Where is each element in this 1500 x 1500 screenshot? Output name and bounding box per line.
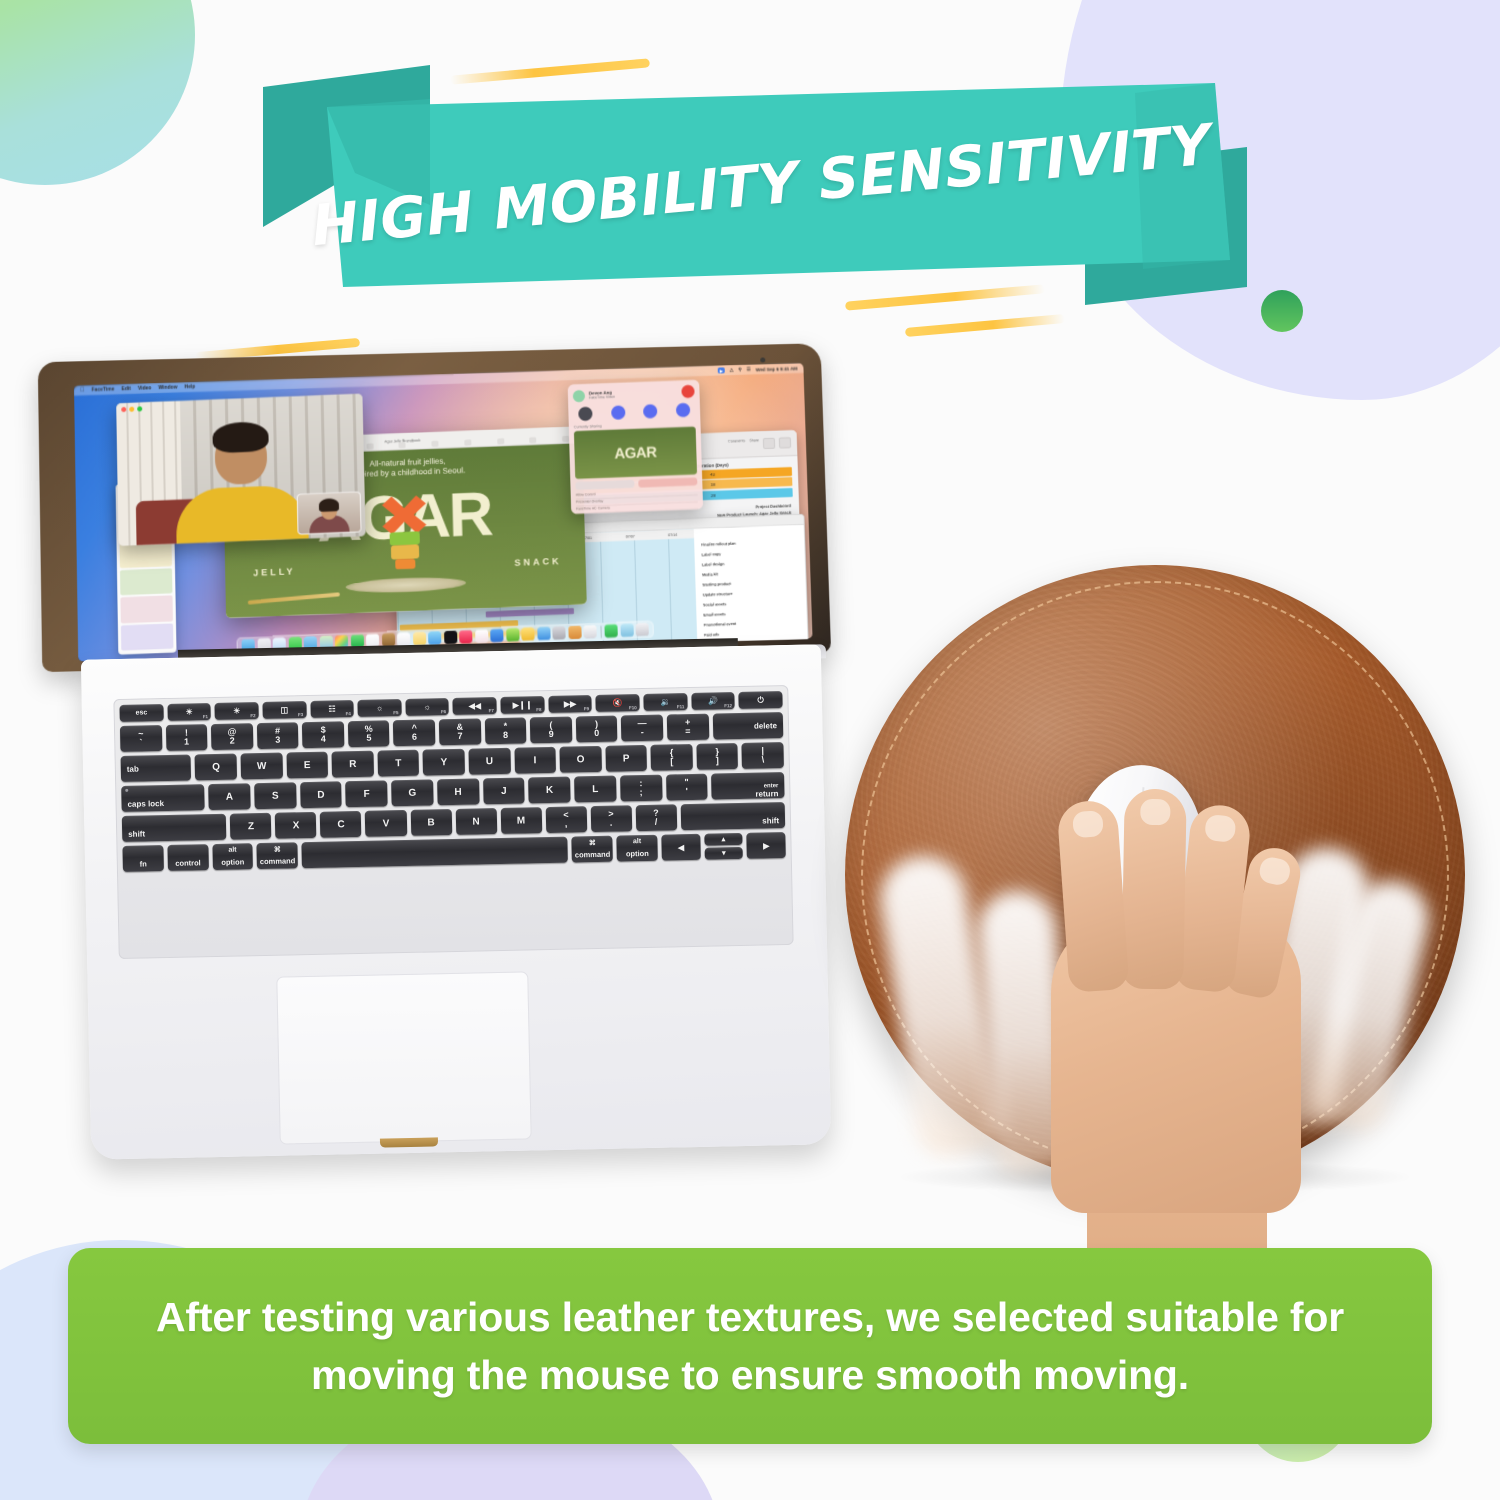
keynote-shape-icon[interactable] xyxy=(399,442,406,448)
key-command-right[interactable]: ⌘command xyxy=(572,836,613,863)
effects-icon[interactable] xyxy=(676,403,690,417)
key-quote[interactable]: "' xyxy=(666,774,708,801)
key-command-left[interactable]: ⌘command xyxy=(257,842,298,869)
reminders-icon[interactable] xyxy=(397,632,410,646)
close-icon[interactable] xyxy=(121,407,126,412)
key-1[interactable]: !1 xyxy=(165,724,207,751)
key-p[interactable]: P xyxy=(605,745,647,772)
notes-icon[interactable] xyxy=(412,632,425,646)
key-tab[interactable]: tab xyxy=(121,754,192,781)
freeform-icon[interactable] xyxy=(428,631,441,645)
note-card[interactable] xyxy=(120,568,173,595)
key-backtick[interactable]: ~` xyxy=(120,725,162,752)
menu-item-window[interactable]: Window xyxy=(158,385,177,392)
key-minus[interactable]: —- xyxy=(621,715,663,742)
preview-icon[interactable] xyxy=(552,626,565,640)
decor-dot-green xyxy=(1261,290,1303,332)
note-card[interactable] xyxy=(121,623,174,650)
facetime-participant-hair xyxy=(212,421,268,453)
share-label[interactable]: Share xyxy=(749,438,759,449)
screenshare-status-icon[interactable]: ▶ xyxy=(718,367,725,373)
window-traffic-lights[interactable] xyxy=(121,406,142,412)
key-h[interactable]: H xyxy=(437,778,479,805)
key-3[interactable]: #3 xyxy=(257,722,299,749)
key-9[interactable]: (9 xyxy=(530,717,572,744)
key-return[interactable]: enter return xyxy=(711,772,784,800)
slide-tag-right: SNACK xyxy=(514,556,561,568)
key-y[interactable]: Y xyxy=(423,749,465,776)
key-j[interactable]: J xyxy=(483,778,525,805)
key-z[interactable]: Z xyxy=(230,813,272,840)
popover-caller-row: Devon Ang FaceTime Video xyxy=(573,385,695,403)
control-center-icon[interactable]: ☲ xyxy=(747,367,751,373)
wifi-icon[interactable]: △ xyxy=(730,367,734,373)
key-period[interactable]: >. xyxy=(590,805,632,832)
key-f1-brightness-down[interactable]: ☀F1 xyxy=(167,703,211,721)
fingernail xyxy=(1072,810,1104,838)
keynote-text-icon[interactable] xyxy=(366,443,373,449)
key-arrow-right[interactable]: ▶ xyxy=(747,832,786,859)
menu-item-video[interactable]: Video xyxy=(138,385,152,391)
menubar-status[interactable]: ▶ △ ⚲ ☲ Wed Sep 6 9:41 AM xyxy=(718,365,798,373)
edit-window-button[interactable] xyxy=(575,480,634,490)
apple-logo-icon[interactable]:  xyxy=(80,387,85,393)
menubar-clock[interactable]: Wed Sep 6 9:41 AM xyxy=(756,366,798,372)
key-i[interactable]: I xyxy=(514,747,556,774)
key-m[interactable]: M xyxy=(500,807,542,834)
key-esc[interactable]: esc xyxy=(119,704,163,722)
key-w[interactable]: W xyxy=(241,753,283,780)
keynote-format-icon[interactable] xyxy=(529,437,536,443)
popover-actions[interactable] xyxy=(573,403,695,422)
numbers-icon[interactable] xyxy=(506,628,519,642)
jelly-candy-stack xyxy=(378,495,432,589)
key-f5-keyboard-light-down[interactable]: ☼F5 xyxy=(358,699,402,717)
key-t[interactable]: T xyxy=(377,750,419,777)
key-fn[interactable]: fn xyxy=(122,845,163,872)
leather-mousepad-product xyxy=(845,565,1465,1185)
laptop-display:  FaceTime Edit Video Window Help ▶ △ ⚲ … xyxy=(74,363,813,662)
gantt-date: 07/14 xyxy=(651,532,694,538)
downloads-icon[interactable] xyxy=(620,623,633,637)
laptop-lid:  FaceTime Edit Video Window Help ▶ △ ⚲ … xyxy=(38,343,831,672)
key-c[interactable]: C xyxy=(320,811,362,838)
caption-line-2: moving the mouse to ensure smooth moving… xyxy=(311,1346,1189,1404)
key-e[interactable]: E xyxy=(286,752,328,779)
fingernail xyxy=(1204,814,1237,843)
keynote-collaborate-icon[interactable] xyxy=(497,438,504,444)
macbook-laptop:  FaceTime Edit Video Window Help ▶ △ ⚲ … xyxy=(28,352,828,1162)
key-v[interactable]: V xyxy=(365,810,407,837)
keynote-media-icon[interactable] xyxy=(432,441,439,447)
key-f4-launchpad[interactable]: ☷F4 xyxy=(310,700,354,718)
key-backslash[interactable]: |\ xyxy=(742,742,784,769)
key-k[interactable]: K xyxy=(528,777,570,804)
key-control[interactable]: control xyxy=(167,844,208,871)
keynote-comment-icon[interactable] xyxy=(464,440,471,446)
settings-icon[interactable] xyxy=(604,624,617,638)
key-g[interactable]: G xyxy=(391,779,433,806)
key-4[interactable]: $4 xyxy=(302,721,344,748)
key-f2-brightness-up[interactable]: ☀F2 xyxy=(215,702,259,720)
laptop-keyboard[interactable]: esc ☀F1 ☀F2 ◫F3 ☷F4 ☼F5 ☼F6 ◀◀F7 ▶❙❙F8 ▶… xyxy=(113,685,793,959)
gantt-date: 07/07 xyxy=(609,533,652,539)
video-camera-icon[interactable] xyxy=(611,405,625,419)
maximize-icon[interactable] xyxy=(137,406,142,411)
webcam-icon xyxy=(760,357,765,362)
key-f7-rewind[interactable]: ◀◀F7 xyxy=(453,697,497,715)
fingernail xyxy=(1140,799,1170,826)
key-f3-mission-control[interactable]: ◫F3 xyxy=(262,701,306,719)
key-power[interactable]: ⏻ xyxy=(739,691,783,709)
key-s[interactable]: S xyxy=(254,782,296,809)
slide-tag-left: JELLY xyxy=(253,566,295,578)
popover-caller-info: Devon Ang FaceTime Video xyxy=(589,390,615,400)
books-icon[interactable] xyxy=(568,626,581,640)
key-f10-mute[interactable]: 🔇F10 xyxy=(596,694,640,712)
shared-window-thumbnail[interactable]: AGAR xyxy=(574,427,697,479)
key-a[interactable]: A xyxy=(208,783,250,810)
candy-star-icon xyxy=(382,495,427,535)
key-x[interactable]: X xyxy=(275,812,317,839)
candy-yellow xyxy=(391,544,419,559)
key-arrow-down[interactable]: ▼ xyxy=(704,847,743,860)
key-arrow-up[interactable]: ▲ xyxy=(704,833,743,846)
key-f[interactable]: F xyxy=(346,780,388,807)
key-7[interactable]: &7 xyxy=(439,718,481,745)
headline-ribbon: HIGH MOBILITY SENSITIVITY xyxy=(255,55,1255,305)
podcasts-icon[interactable] xyxy=(475,629,488,643)
menu-item-app[interactable]: FaceTime xyxy=(91,386,114,393)
slide-plate xyxy=(346,576,466,595)
key-shift-right[interactable]: shift xyxy=(680,802,785,830)
format-icon[interactable] xyxy=(763,438,775,449)
caption-line-1: After testing various leather textures, … xyxy=(156,1288,1344,1346)
key-5[interactable]: %5 xyxy=(348,720,390,747)
trash-icon[interactable] xyxy=(635,623,648,637)
macos-desktop:  FaceTime Edit Video Window Help ▶ △ ⚲ … xyxy=(74,363,813,662)
laptop-trackpad[interactable] xyxy=(276,971,531,1144)
key-r[interactable]: R xyxy=(332,751,374,778)
dock-separator xyxy=(600,625,601,637)
comments-label[interactable]: Comments xyxy=(728,439,746,451)
slide-headline: All-natural fruit jellies, inspired by a… xyxy=(350,456,465,481)
key-2[interactable]: @2 xyxy=(211,723,253,750)
share-screen-icon[interactable] xyxy=(643,404,657,418)
key-b[interactable]: B xyxy=(410,809,452,836)
mute-mic-icon[interactable] xyxy=(578,407,592,421)
key-shift-left[interactable]: shift xyxy=(122,814,227,842)
key-arrow-left[interactable]: ◀ xyxy=(661,834,700,861)
key-bracket-left[interactable]: {[ xyxy=(651,744,693,771)
numbers-toolbar-right[interactable]: Comments Share xyxy=(728,437,791,450)
minimize-icon[interactable] xyxy=(129,407,134,412)
keynote-icon[interactable] xyxy=(537,627,550,641)
facetime-share-popover[interactable]: Devon Ang FaceTime Video Currently Shari… xyxy=(568,380,704,515)
candy-green xyxy=(390,531,420,545)
key-8[interactable]: *8 xyxy=(484,717,526,744)
key-delete[interactable]: delete xyxy=(712,712,783,739)
key-equals[interactable]: += xyxy=(667,714,709,741)
key-l[interactable]: L xyxy=(574,776,616,803)
key-n[interactable]: N xyxy=(455,808,497,835)
key-comma[interactable]: <, xyxy=(545,806,587,833)
end-call-button[interactable] xyxy=(681,385,694,398)
key-d[interactable]: D xyxy=(300,781,342,808)
key-semicolon[interactable]: :; xyxy=(620,775,662,802)
key-bracket-right[interactable]: }] xyxy=(696,743,738,770)
product-infographic: HIGH MOBILITY SENSITIVITY  FaceTime Edi… xyxy=(0,0,1500,1500)
self-view-hair xyxy=(319,498,339,512)
finger-index xyxy=(1056,799,1129,993)
appletv-icon[interactable] xyxy=(444,631,457,645)
key-f6-keyboard-light-up[interactable]: ☼F6 xyxy=(405,698,449,716)
organize-icon[interactable] xyxy=(779,437,791,448)
pages-icon[interactable] xyxy=(521,627,534,641)
key-f12-volume-up[interactable]: 🔊F12 xyxy=(691,692,735,710)
laptop-open-notch xyxy=(380,1137,438,1147)
key-0[interactable]: )0 xyxy=(576,716,618,743)
key-caps-lock[interactable]: caps lock xyxy=(121,784,205,812)
finger-middle xyxy=(1121,788,1186,989)
avatar xyxy=(573,389,585,401)
key-slash[interactable]: ?/ xyxy=(635,804,677,831)
screenshot-icon[interactable] xyxy=(583,625,596,639)
key-option-right[interactable]: altoption xyxy=(617,835,658,862)
fingernail xyxy=(1257,855,1292,887)
key-f8-play-pause[interactable]: ▶❙❙F8 xyxy=(501,696,545,714)
search-icon[interactable]: ⚲ xyxy=(738,367,742,373)
key-6[interactable]: ^6 xyxy=(393,719,435,746)
facetime-self-view[interactable] xyxy=(297,491,362,535)
candy-orange xyxy=(395,559,415,570)
music-icon[interactable] xyxy=(459,630,472,644)
key-f11-volume-down[interactable]: 🔉F11 xyxy=(643,693,687,711)
facetime-window[interactable] xyxy=(116,394,365,546)
accent-stroke-3 xyxy=(905,314,1065,337)
key-o[interactable]: O xyxy=(560,746,602,773)
slide-spoon xyxy=(248,592,340,604)
appstore-icon[interactable] xyxy=(490,629,503,643)
menu-item-help[interactable]: Help xyxy=(184,384,195,390)
hand-using-mouse xyxy=(995,795,1355,1215)
decor-blob-top-left xyxy=(0,0,195,185)
key-f9-fast-forward[interactable]: ▶▶F9 xyxy=(548,695,592,713)
stop-sharing-button[interactable] xyxy=(638,477,697,487)
key-q[interactable]: Q xyxy=(195,754,237,781)
key-option-left[interactable]: altoption xyxy=(212,843,253,870)
arrow-key-stack: ▲ ▼ xyxy=(704,833,743,860)
key-space[interactable] xyxy=(302,837,569,869)
feature-caption-banner: After testing various leather textures, … xyxy=(68,1248,1432,1444)
menu-item-edit[interactable]: Edit xyxy=(121,386,131,392)
key-u[interactable]: U xyxy=(468,748,510,775)
note-card[interactable] xyxy=(120,596,173,623)
call-type: FaceTime Video xyxy=(589,395,615,400)
